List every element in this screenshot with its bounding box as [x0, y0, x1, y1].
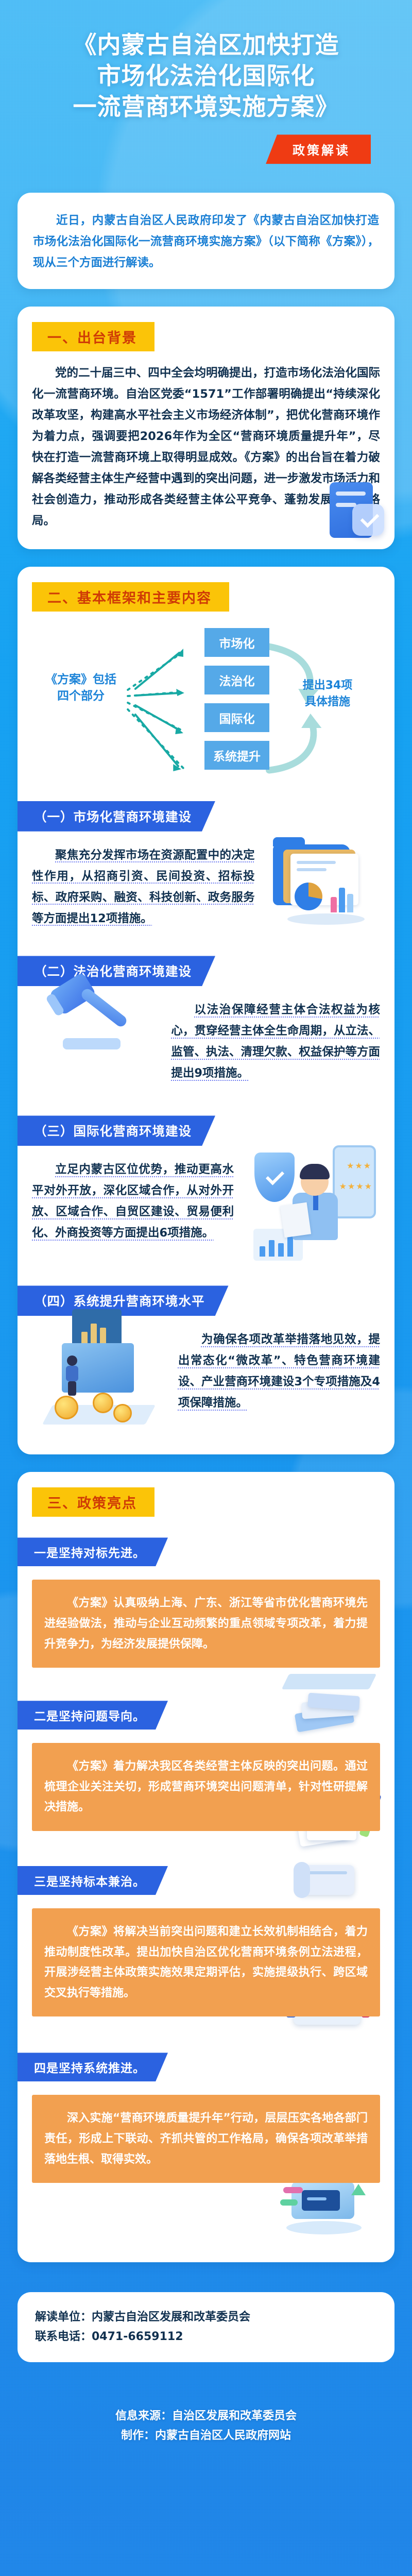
subsection-2: （二）法治化营商环境建设 以法治保障经营主体合法权益为核心，贯穿经营主体全生命周… — [32, 953, 380, 1092]
policy-tag-row: 政策解读 — [18, 134, 394, 164]
diagram-chip-rule-of-law: 法治化 — [204, 666, 269, 694]
contact-card: 解读单位：内蒙古自治区发展和改革委员会 联系电话：0471-6659112 — [18, 2292, 394, 2362]
subsection-3-banner: （三）国际化营商环境建设 — [18, 1115, 215, 1146]
section-1-body: 党的二十届三中、四中全会均明确提出，打造市场化法治化国际化一流营商环境。自治区党… — [32, 363, 380, 532]
folder-chart-icon — [268, 833, 376, 926]
highlight-4-body: 深入实施“营商环境质量提升年”行动，层层压实各地各部门责任，形成上下联动、齐抓共… — [32, 2095, 380, 2183]
intro-card: 近日，内蒙古自治区人民政府印发了《内蒙古自治区加快打造市场化法治化国际化一流营商… — [18, 193, 394, 289]
diagram-chip-marketization: 市场化 — [204, 628, 269, 657]
section-2-card: 二、基本框架和主要内容 — [18, 567, 394, 1455]
framework-diagram: 《方案》包括四个部分 市场化 法治化 国际化 系统提升 提出34项具体措施 — [32, 628, 380, 788]
scroll-document-icon — [290, 1855, 363, 1911]
section-1-banner: 一、出台背景 — [32, 322, 154, 351]
contact-unit: 解读单位：内蒙古自治区发展和改革委员会 — [35, 2308, 377, 2327]
highlight-2-body: 《方案》着力解决我区各类经营主体反映的突出问题。通过梳理企业关注关切，形成营商环… — [32, 1743, 380, 1831]
intro-text: 近日，内蒙古自治区人民政府印发了《内蒙古自治区加快打造市场化法治化国际化一流营商… — [33, 210, 379, 274]
subsection-4-body: 为确保各项改革举措落地见效，提出常态化“微改革”、特色营商环境建设、产业营商环境… — [178, 1329, 380, 1414]
contact-phone: 联系电话：0471-6659112 — [35, 2327, 377, 2347]
highlight-1-body: 《方案》认真吸纳上海、广东、浙江等省市优化营商环境先进经验做法，推动与企业互动频… — [32, 1580, 380, 1668]
subsection-4-banner: （四）系统提升营商环境水平 — [18, 1285, 229, 1316]
section-2-banner: 二、基本框架和主要内容 — [32, 582, 229, 612]
subsection-1-banner: （一）市场化营商环境建设 — [18, 801, 215, 832]
highlight-4: 四是坚持系统推进。 深入实施“营商环境质量提升年”行动，层层压实各地各部门责任，… — [32, 2050, 380, 2245]
subsection-3: （三）国际化营商环境建设 立足内蒙古区位优势，推动更高水平对外开放，深化区域合作… — [32, 1112, 380, 1262]
title-line-2: 市场化法治化国际化 — [18, 61, 394, 92]
subsection-1-body: 聚焦充分发挥市场在资源配置中的决定性作用，从招商引资、民间投资、招标投标、政府采… — [32, 845, 255, 929]
highlight-4-banner: 四是坚持系统推进。 — [18, 2053, 168, 2081]
section-3-banner: 三、政策亮点 — [32, 1487, 154, 1517]
subsection-3-body: 立足内蒙古区位优势，推动更高水平对外开放，深化区域合作，从对外开放、区域合作、自… — [32, 1159, 234, 1244]
page-title: 《内蒙古自治区加快打造 市场化法治化国际化 一流营商环境实施方案》 — [18, 30, 394, 122]
highlight-3: 三是坚持标本兼治。 《方案》将解决当前突出问题和建立长效机制相结合，着力推动制度… — [32, 1864, 380, 2016]
diagram-chip-column: 市场化 法治化 国际化 系统提升 — [204, 628, 269, 770]
subsection-4: （四）系统提升营商环境水平 为确保各项改革举措落地见效，提出常态化“微改革”、特… — [32, 1282, 380, 1437]
footer-source: 信息来源：自治区发展和改革委员会 制作：内蒙古自治区人民政府网站 — [0, 2406, 412, 2477]
highlight-2-banner: 二是坚持问题导向。 — [18, 1701, 168, 1730]
subsection-2-banner: （二）法治化营商环境建设 — [18, 956, 215, 986]
subsection-1: （一）市场化营商环境建设 聚焦充分发挥市场在资源配置中的决定性作用，从招商引资、… — [32, 798, 380, 929]
infographic-page: 《内蒙古自治区加快打造 市场化法治化国际化 一流营商环境实施方案》 政策解读 近… — [0, 0, 412, 2476]
coins-dashboard-icon — [44, 1306, 173, 1425]
highlight-3-body: 《方案》将解决当前突出问题和建立长效机制相结合，着力推动制度性改革。提出加快自治… — [32, 1908, 380, 2016]
hero-header: 《内蒙古自治区加快打造 市场化法治化国际化 一流营商环境实施方案》 政策解读 — [0, 0, 412, 164]
diagram-chip-system-upgrade: 系统提升 — [204, 741, 269, 770]
highlight-3-banner: 三是坚持标本兼治。 — [18, 1866, 168, 1895]
title-line-1: 《内蒙古自治区加快打造 — [18, 30, 394, 61]
footer-info-source: 信息来源：自治区发展和改革委员会 — [0, 2406, 412, 2426]
section-3-card: 三、政策亮点 一是坚持对标先进。 《方案》认真吸纳上海、广东、浙江等省市优化营商… — [18, 1472, 394, 2262]
businessman-review-icon: ★★★ ★★★★ — [249, 1143, 378, 1262]
diagram-right-label: 提出34项具体措施 — [286, 677, 369, 711]
diagram-left-label: 《方案》包括四个部分 — [37, 671, 125, 705]
footer-producer: 制作：内蒙古自治区人民政府网站 — [0, 2426, 412, 2446]
policy-tag-badge: 政策解读 — [266, 134, 371, 164]
highlight-1-banner: 一是坚持对标先进。 — [18, 1537, 168, 1566]
highlight-1: 一是坚持对标先进。 《方案》认真吸纳上海、广东、浙江等省市优化营商环境先进经验做… — [32, 1535, 380, 1668]
title-line-3: 一流营商环境实施方案》 — [18, 92, 394, 123]
subsection-2-body: 以法治保障经营主体合法权益为核心，贯穿经营主体全生命周期，从立法、监管、执法、清… — [171, 999, 380, 1084]
highlight-2: 二是坚持问题导向。 《方案》着力解决我区各类经营主体反映的突出问题。通过梳理企业… — [32, 1699, 380, 1831]
diagram-chip-internationalization: 国际化 — [204, 703, 269, 732]
section-1-card: 一、出台背景 党的二十届三中、四中全会均明确提出，打造市场化法治化国际化一流营商… — [18, 307, 394, 549]
